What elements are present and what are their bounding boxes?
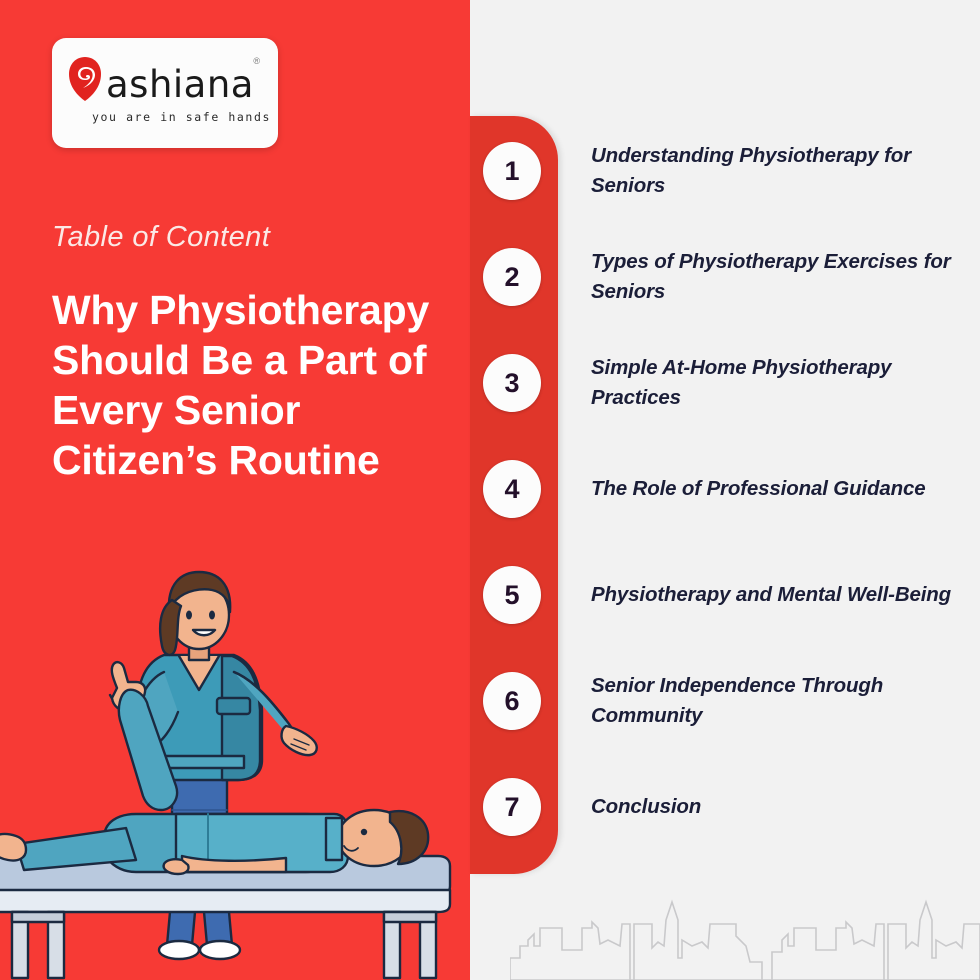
toc-item-label[interactable]: Simple At-Home Physiotherapy Practices [591,353,961,412]
left-red-panel: ashiana ® you are in safe hands Table of… [0,0,470,980]
brand-wordmark: ashiana [106,67,254,102]
brand-logo-card: ashiana ® you are in safe hands [52,38,278,148]
list-item[interactable]: 1 Understanding Physiotherapy for Senior… [470,132,980,210]
list-item[interactable]: 6 Senior Independence Through Community [470,662,980,740]
toc-item-label[interactable]: Understanding Physiotherapy for Seniors [591,141,961,200]
toc-item-number: 2 [483,248,541,306]
list-item[interactable]: 5 Physiotherapy and Mental Well-Being [470,556,980,634]
toc-item-label[interactable]: Senior Independence Through Community [591,671,961,730]
physiotherapy-illustration [0,560,470,980]
registered-trademark-icon: ® [253,56,260,66]
table-of-contents-list: 1 Understanding Physiotherapy for Senior… [470,116,980,874]
toc-item-label[interactable]: Conclusion [591,792,961,822]
list-item[interactable]: 4 The Role of Professional Guidance [470,450,980,528]
brand-tagline: you are in safe hands [92,110,271,124]
ashiana-leaf-mark-icon [68,56,102,102]
toc-item-number: 7 [483,778,541,836]
list-item[interactable]: 3 Simple At-Home Physiotherapy Practices [470,344,980,422]
toc-item-label[interactable]: The Role of Professional Guidance [591,474,961,504]
list-item[interactable]: 2 Types of Physiotherapy Exercises for S… [470,238,980,316]
toc-item-number: 4 [483,460,541,518]
toc-item-number: 6 [483,672,541,730]
toc-item-label[interactable]: Physiotherapy and Mental Well-Being [591,580,961,610]
city-skyline-icon [510,880,980,980]
logo-lockup: ashiana [68,56,254,102]
page-title: Why Physiotherapy Should Be a Part of Ev… [52,285,442,485]
toc-item-number: 3 [483,354,541,412]
toc-item-label[interactable]: Types of Physiotherapy Exercises for Sen… [591,247,961,306]
list-item[interactable]: 7 Conclusion [470,768,980,846]
toc-item-number: 5 [483,566,541,624]
toc-item-number: 1 [483,142,541,200]
toc-eyebrow: Table of Content [52,221,270,254]
